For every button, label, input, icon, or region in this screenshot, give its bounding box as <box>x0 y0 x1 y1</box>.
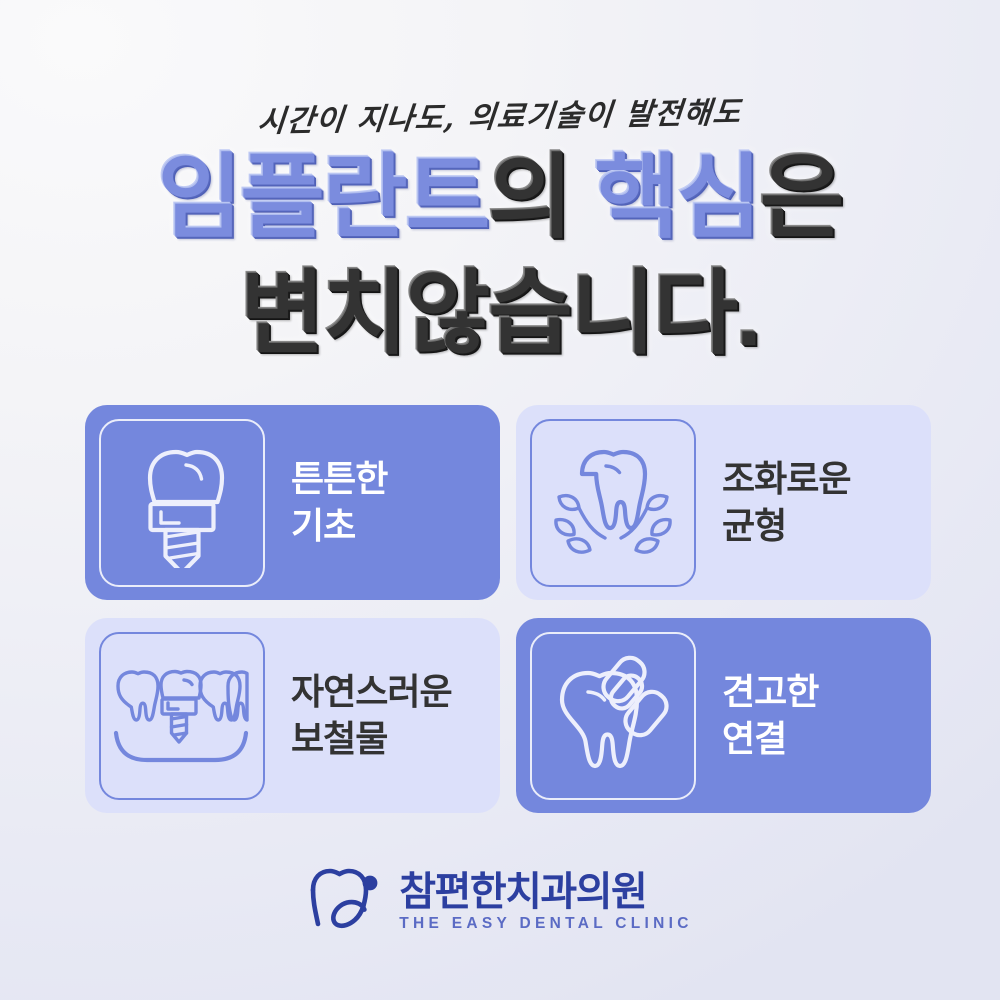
feature-card-harmonious-balance[interactable]: 조화로운 균형 <box>516 405 931 600</box>
feature-card-natural-prosthetics[interactable]: 자연스러운 보철물 <box>85 618 500 813</box>
headline-particle-ui: 의 <box>488 147 594 249</box>
teeth-row-implant-icon <box>99 632 265 800</box>
tooth-laurel-wreath-icon <box>530 419 696 587</box>
feature-card-grid: 튼튼한 기초 조화로운 <box>85 405 915 813</box>
subtitle-text: 시간이 지나도, 의료기술이 발전해도 <box>0 82 1000 145</box>
feature-card-label: 자연스러운 보철물 <box>291 669 452 761</box>
clinic-name-en: THE EASY DENTAL CLINIC <box>399 915 693 934</box>
clinic-name-ko: 참편한치과의원 <box>399 871 646 913</box>
headline-word-core: 핵심 <box>594 147 759 249</box>
headline-line-1: 임플란트의 핵심은 <box>0 152 1000 244</box>
feature-card-label: 조화로운 균형 <box>722 456 850 548</box>
clinic-logo: 참편한치과의원 THE EASY DENTAL CLINIC <box>0 866 1000 939</box>
feature-card-label: 견고한 연결 <box>722 669 818 761</box>
tooth-chain-link-icon <box>530 632 696 800</box>
poster-canvas: 시간이 지나도, 의료기술이 발전해도 임플란트의 핵심은 변치않습니다. 튼튼… <box>0 0 1000 1000</box>
feature-card-label: 튼튼한 기초 <box>291 456 387 548</box>
headline-particle-eun: 은 <box>760 147 843 249</box>
feature-card-strong-foundation[interactable]: 튼튼한 기초 <box>85 405 500 600</box>
dental-implant-icon <box>99 419 265 587</box>
headline-line-2: 변치않습니다. <box>0 268 1000 360</box>
logo-text-block: 참편한치과의원 THE EASY DENTAL CLINIC <box>399 871 693 934</box>
feature-card-firm-connection[interactable]: 견고한 연결 <box>516 618 931 813</box>
tooth-loop-logo-icon <box>307 866 385 939</box>
headline-word-implant: 임플란트 <box>158 147 489 249</box>
headline-phrase-unchanging: 변치않습니다. <box>240 263 759 365</box>
